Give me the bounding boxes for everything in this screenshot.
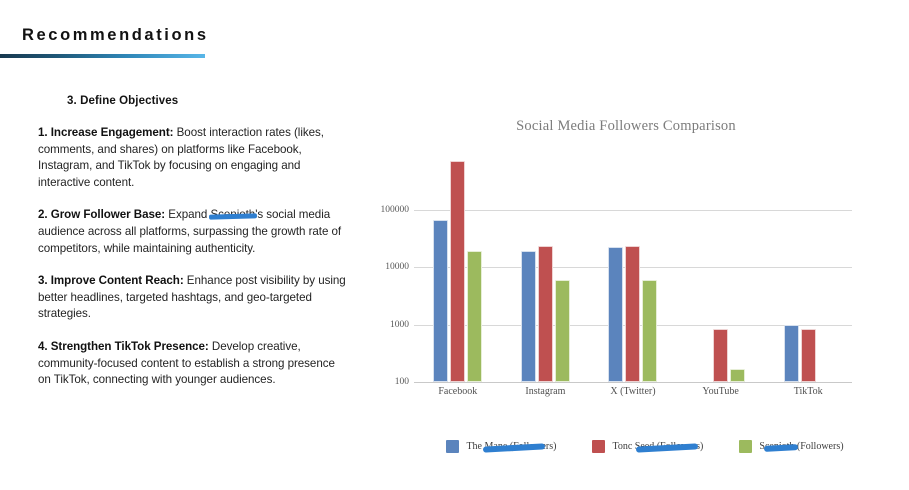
bar	[625, 246, 640, 382]
x-axis-tick-label: X (Twitter)	[591, 386, 675, 397]
plot-area	[414, 152, 852, 382]
legend-label: Scenioth (Followers)	[759, 441, 843, 452]
bar	[713, 329, 728, 382]
bar	[521, 251, 536, 382]
bar	[730, 369, 745, 382]
recommendations-column: 3. Define Objectives 1. Increase Engagem…	[38, 95, 350, 405]
legend-item: Scenioth (Followers)	[739, 440, 843, 453]
legend-item: The Mane (Followers)	[446, 440, 556, 453]
bar	[450, 161, 465, 382]
recommendation-item-1: 1. Increase Engagement: Boost interactio…	[38, 125, 350, 191]
recommendation-lead: 2. Grow Follower Base:	[38, 208, 165, 221]
x-axis-tick-label: Instagram	[503, 386, 587, 397]
legend-swatch	[739, 440, 752, 453]
recommendation-item-2: 2. Grow Follower Base: Expand Scenioth's…	[38, 207, 350, 257]
chart-title: Social Media Followers Comparison	[366, 108, 886, 135]
recommendation-item-3: 3. Improve Content Reach: Enhance post v…	[38, 273, 350, 323]
y-axis-tick-label: 100000	[368, 205, 414, 215]
x-axis-tick-label: TikTok	[766, 386, 850, 397]
legend-label: The Mane (Followers)	[466, 441, 556, 452]
bar	[608, 247, 623, 382]
bar-group	[784, 152, 833, 382]
legend-item: Tonc Seed (Followers)	[592, 440, 703, 453]
bar-group	[521, 152, 570, 382]
legend-label: Tonc Seed (Followers)	[612, 441, 703, 452]
y-axis-tick-label: 1000	[368, 320, 414, 330]
bar	[433, 220, 448, 382]
recommendation-lead: 4. Strengthen TikTok Presence:	[38, 340, 209, 353]
legend-swatch	[592, 440, 605, 453]
x-axis-tick-label: Facebook	[416, 386, 500, 397]
recommendation-lead: 3. Improve Content Reach:	[38, 274, 184, 287]
bar	[555, 280, 570, 382]
bar	[801, 329, 816, 382]
x-axis-tick-label: YouTube	[679, 386, 763, 397]
title-accent-rule	[0, 54, 205, 58]
bar-groups	[414, 152, 852, 382]
recommendation-body-before: Expand	[165, 208, 210, 221]
chart-panel: Social Media Followers Comparison 100100…	[366, 108, 886, 428]
bar-group	[433, 152, 482, 382]
section-heading: 3. Define Objectives	[67, 95, 350, 107]
bar-group	[696, 152, 745, 382]
slide-header: Recommendations	[0, 26, 909, 58]
bar	[784, 325, 799, 383]
page-title: Recommendations	[0, 26, 909, 45]
bar	[642, 280, 657, 382]
recommendation-lead: 1. Increase Engagement:	[38, 126, 173, 139]
bar-group	[608, 152, 657, 382]
bar	[467, 251, 482, 382]
y-axis-tick-label: 10000	[368, 262, 414, 272]
redacted-company-name: Scenioth	[210, 207, 255, 224]
recommendation-item-4: 4. Strengthen TikTok Presence: Develop c…	[38, 339, 350, 389]
legend-swatch	[446, 440, 459, 453]
y-axis: 100100010000100000	[366, 152, 414, 382]
x-axis-line	[414, 382, 852, 383]
bar	[538, 246, 553, 382]
chart-plot-wrapper: 100100010000100000 FacebookInstagramX (T…	[366, 152, 886, 392]
chart-legend: The Mane (Followers)Tonc Seed (Followers…	[414, 440, 876, 453]
x-axis-labels: FacebookInstagramX (Twitter)YouTubeTikTo…	[414, 386, 852, 397]
y-axis-tick-label: 100	[368, 377, 414, 387]
